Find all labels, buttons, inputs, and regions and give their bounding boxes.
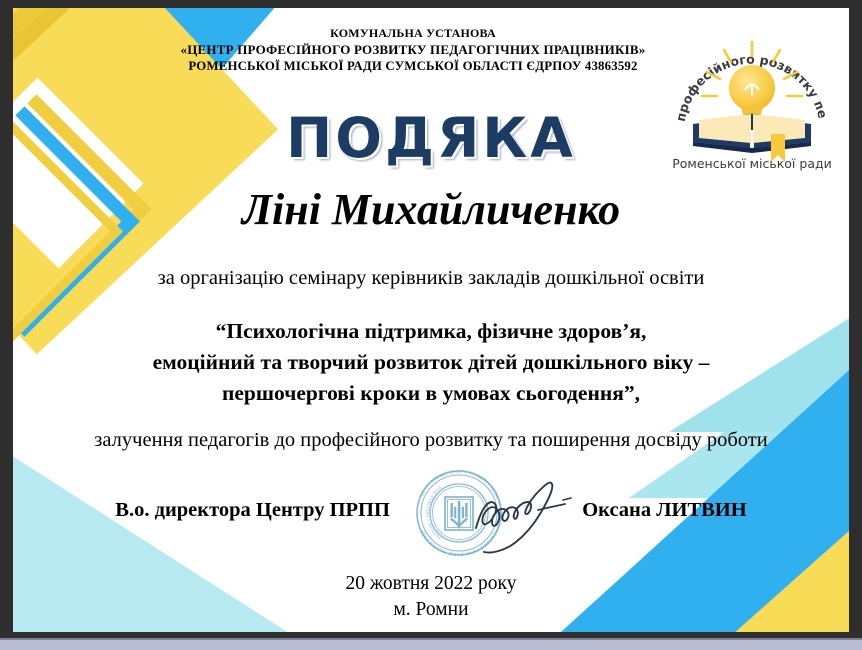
date-text: 20 жовтня 2022 року [13,571,849,597]
institution-line-2: «ЦЕНТР ПРОФЕСІЙНОГО РОЗВИТКУ ПЕДАГОГІЧНИ… [133,42,693,59]
institution-line-3: РОМЕНСЬКОЇ МІСЬКОЇ РАДИ СУМСЬКОЇ ОБЛАСТІ… [133,58,693,75]
date-block: 20 жовтня 2022 року м. Ромни [13,571,849,623]
seminar-title-line-3: першочергові кроки в умовах сьогодення”, [43,378,819,409]
page-title: ПОДЯКА [13,106,849,170]
signatory-position-title: В.о. директора Центру ПРПП [115,499,390,522]
certificate-content: КОМУНАЛЬНА УСТАНОВА «ЦЕНТР ПРОФЕСІЙНОГО … [13,8,849,632]
certificate-page: КОМУНАЛЬНА УСТАНОВА «ЦЕНТР ПРОФЕСІЙНОГО … [13,8,849,632]
window-bottom-strip [0,638,862,650]
seal-ring-text-inner: КОД 43863592 • УКРАЇНА [425,485,443,541]
seminar-title: “Психологічна підтримка, фізичне здоров’… [43,316,819,409]
signatory-name: Оксана ЛИТВИН [582,499,747,522]
institution-line-1: КОМУНАЛЬНА УСТАНОВА [133,25,693,42]
institution-header: КОМУНАЛЬНА УСТАНОВА «ЦЕНТР ПРОФЕСІЙНОГО … [133,25,693,75]
reason-line: за організацію семінару керівників закла… [13,267,849,290]
recipient-name: Ліні Михайличенко [13,184,849,235]
svg-text:КОД 43863592 • УКРАЇНА: КОД 43863592 • УКРАЇНА [425,485,443,541]
seminar-title-line-1: “Психологічна підтримка, фізичне здоров’… [43,316,819,347]
certificate-frame: КОМУНАЛЬНА УСТАНОВА «ЦЕНТР ПРОФЕСІЙНОГО … [0,0,862,650]
handwritten-signature [468,470,588,560]
place-text: м. Ромни [13,597,849,623]
purpose-line: залучення педагогів до професійного розв… [13,429,849,452]
seminar-title-line-2: емоційний та творчий розвиток дітей дошк… [43,347,819,378]
